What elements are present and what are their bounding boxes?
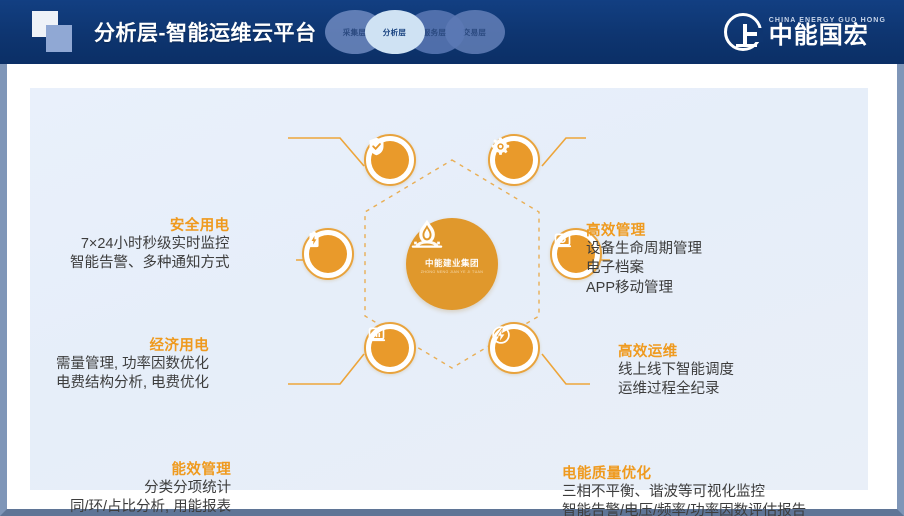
block-power-quality: 电能质量优化 三相不平衡、谐波等可视化监控 智能告警/电压/频率/功率因数评估报… — [562, 462, 806, 516]
block-line: 电子档案 — [586, 259, 702, 278]
block-economical-electricity: 经济用电 需量管理, 功率因数优化 电费结构分析, 电费优化 — [56, 334, 209, 394]
logo-stroke-base — [736, 44, 757, 47]
battery-bolt-icon — [309, 235, 347, 273]
block-line: APP移动管理 — [586, 279, 702, 298]
layer-pill-analysis[interactable]: 分析层 — [365, 10, 425, 54]
block-line: 三相不平衡、谐波等可视化监控 — [562, 483, 806, 502]
block-safe-electricity: 安全用电 7×24小时秒级实时监控 智能告警、多种通知方式 — [70, 214, 230, 274]
block-line: 智能告警/电压/频率/功率因数评估报告 — [562, 502, 806, 516]
block-efficient-management: 高效管理 设备生命周期管理 电子档案 APP移动管理 — [586, 219, 702, 298]
china-energy-guohong-circle-logo-icon — [724, 13, 762, 51]
block-heading: 高效管理 — [586, 219, 702, 240]
block-line: 智能告警、多种通知方式 — [70, 254, 230, 273]
logo-stroke-horizontal — [743, 32, 757, 36]
layer-pill-label: 采集层 — [343, 27, 366, 38]
block-line: 线上线下智能调度 — [618, 361, 734, 380]
block-line: 同/环/占比分析, 用能报表 — [70, 498, 231, 516]
block-line: 需量管理, 功率因数优化 — [56, 355, 209, 374]
block-line: 设备生命周期管理 — [586, 240, 702, 259]
node-energy-efficiency[interactable] — [364, 322, 416, 374]
block-line: 7×24小时秒级实时监控 — [70, 235, 230, 254]
company-logo-text: CHINA ENERGY GUO HONG 中能国宏 — [769, 17, 886, 48]
block-efficient-operations: 高效运维 线上线下智能调度 运维过程全纪录 — [618, 340, 734, 400]
header-bar: 分析层-智能运维云平台 采集层 服务层 交易层 分析层 CH — [0, 0, 904, 64]
slide-root: 分析层-智能运维云平台 采集层 服务层 交易层 分析层 CH — [0, 0, 904, 516]
center-emblem[interactable]: 中能建业集团 ZHONG NENG JIAN YE JI TUAN — [406, 218, 498, 310]
hex-diagram: 中能建业集团 ZHONG NENG JIAN YE JI TUAN — [322, 134, 582, 394]
company-name-cn: 中能国宏 — [769, 24, 886, 48]
lightning-bolt-circle-icon — [495, 329, 533, 367]
shield-check-icon — [371, 141, 409, 179]
block-heading: 能效管理 — [70, 458, 231, 479]
block-line: 分类分项统计 — [70, 479, 231, 498]
block-heading: 高效运维 — [618, 340, 734, 361]
layer-pill-label: 分析层 — [383, 27, 406, 38]
node-power-quality[interactable] — [488, 322, 540, 374]
content-panel: 中能建业集团 ZHONG NENG JIAN YE JI TUAN 安全用电 7… — [30, 88, 868, 490]
two-squares-logo-icon — [30, 11, 82, 53]
laptop-bar-chart-icon — [371, 329, 409, 367]
block-line: 运维过程全纪录 — [618, 380, 734, 399]
block-heading: 经济用电 — [56, 334, 209, 355]
node-efficient-management[interactable] — [488, 134, 540, 186]
block-heading: 安全用电 — [70, 214, 230, 235]
page-title: 分析层-智能运维云平台 — [94, 17, 317, 47]
company-logo: CHINA ENERGY GUO HONG 中能国宏 — [724, 10, 886, 54]
layer-pill-label: 服务层 — [423, 27, 446, 38]
flame-gear-emblem-icon — [406, 218, 448, 258]
block-heading: 电能质量优化 — [562, 462, 806, 483]
center-emblem-en: ZHONG NENG JIAN YE JI TUAN — [421, 270, 483, 274]
block-energy-efficiency: 能效管理 分类分项统计 同/环/占比分析, 用能报表 — [70, 458, 231, 516]
center-emblem-cn: 中能建业集团 — [425, 257, 479, 269]
node-safe-electricity[interactable] — [364, 134, 416, 186]
block-line: 电费结构分析, 电费优化 — [56, 374, 209, 393]
node-economical-electricity[interactable] — [302, 228, 354, 280]
logo-square-blue — [46, 25, 72, 52]
layer-pill-label: 交易层 — [463, 27, 486, 38]
layer-pill-group: 采集层 服务层 交易层 分析层 — [325, 7, 505, 57]
gear-icon — [495, 141, 533, 179]
